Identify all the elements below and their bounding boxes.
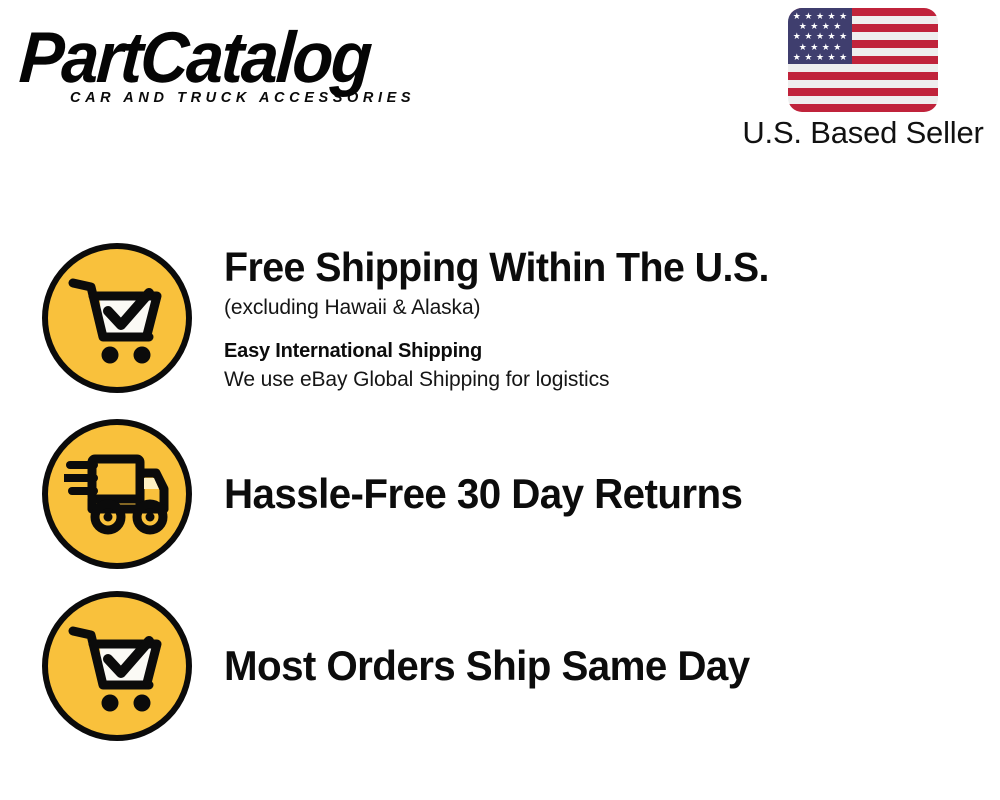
feature-text: Most Orders Ship Same Day <box>224 642 1000 690</box>
feature-text: Hassle-Free 30 Day Returns <box>224 470 1000 518</box>
feature-text: Free Shipping Within The U.S. (excluding… <box>224 243 1000 394</box>
shopping-cart-check-icon <box>42 243 192 393</box>
feature-list: Free Shipping Within The U.S. (excluding… <box>0 228 1000 752</box>
feature-subtext-strong: Easy International Shipping <box>224 337 980 365</box>
shopping-cart-check-icon <box>42 591 192 741</box>
feature-heading: Free Shipping Within The U.S. <box>224 243 950 291</box>
us-based-seller-badge: ★★★★★ ★★★★ ★★★★★ ★★★★ ★★★★★ U.S. Based S… <box>734 8 992 152</box>
brand-wordmark: PartCatalog <box>17 22 459 94</box>
us-based-seller-label: U.S. Based Seller <box>742 114 983 152</box>
seller-info-banner: PartCatalog CAR AND TRUCK ACCESSORIES <box>0 0 1000 800</box>
us-flag-icon: ★★★★★ ★★★★ ★★★★★ ★★★★ ★★★★★ <box>788 8 938 112</box>
flag-canton: ★★★★★ ★★★★ ★★★★★ ★★★★ ★★★★★ <box>788 8 852 64</box>
feature-row: Most Orders Ship Same Day <box>0 580 1000 752</box>
feature-heading: Most Orders Ship Same Day <box>224 642 950 690</box>
brand-logo[interactable]: PartCatalog CAR AND TRUCK ACCESSORIES <box>22 22 492 114</box>
feature-subtext: (excluding Hawaii & Alaska) <box>224 293 980 323</box>
feature-row: Hassle-Free 30 Day Returns <box>0 408 1000 580</box>
feature-subtext-note: We use eBay Global Shipping for logistic… <box>224 365 980 394</box>
delivery-truck-icon <box>42 419 192 569</box>
feature-row: Free Shipping Within The U.S. (excluding… <box>0 228 1000 408</box>
feature-heading: Hassle-Free 30 Day Returns <box>224 470 950 518</box>
